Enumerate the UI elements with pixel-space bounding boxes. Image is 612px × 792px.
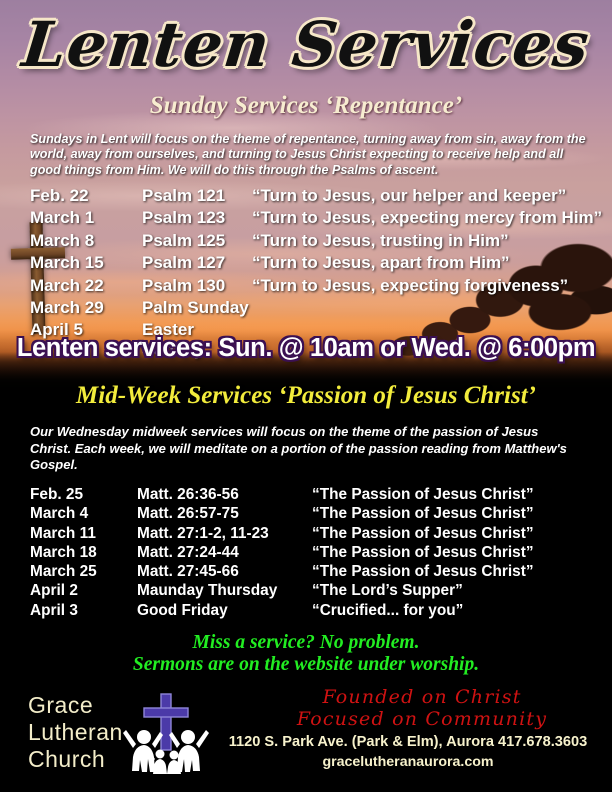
table-row: March 25 Matt. 27:45-66 “The Passion of …: [30, 563, 534, 582]
table-row: March 1 Psalm 123 “Turn to Jesus, expect…: [30, 208, 602, 230]
contact-info: 1120 S. Park Ave. (Park & Elm), Aurora 4…: [208, 732, 608, 772]
table-row: Feb. 22 Psalm 121 “Turn to Jesus, our he…: [30, 186, 602, 208]
schedule-reading: Psalm 130: [142, 276, 252, 296]
schedule-date: Feb. 25: [30, 486, 137, 504]
schedule-theme: “The Lord’s Supper”: [312, 582, 463, 600]
schedule-reading: Matt. 26:36-56: [137, 486, 312, 504]
sunday-schedule-table: Feb. 22 Psalm 121 “Turn to Jesus, our he…: [30, 186, 602, 343]
schedule-reading: Psalm 123: [142, 208, 252, 228]
schedule-date: March 1: [30, 208, 142, 228]
midweek-schedule-table: Feb. 25 Matt. 26:36-56 “The Passion of J…: [30, 486, 534, 621]
table-row: March 22 Psalm 130 “Turn to Jesus, expec…: [30, 276, 602, 298]
table-row: April 3 Good Friday “Crucified... for yo…: [30, 602, 534, 621]
schedule-reading: Psalm 125: [142, 231, 252, 251]
schedule-date: March 8: [30, 231, 142, 251]
tagline-line-2: Focused on Community: [272, 708, 572, 730]
schedule-reading: Psalm 127: [142, 253, 252, 273]
schedule-date: March 29: [30, 298, 142, 318]
sunday-section-heading: Sunday Services ‘Repentance’: [0, 92, 612, 120]
schedule-reading: Matt. 26:57-75: [137, 505, 312, 523]
schedule-date: Feb. 22: [30, 186, 142, 206]
schedule-date: March 22: [30, 276, 142, 296]
note-line-2: Sermons are on the website under worship…: [0, 654, 612, 676]
table-row: March 8 Psalm 125 “Turn to Jesus, trusti…: [30, 231, 602, 253]
schedule-theme: “Crucified... for you”: [312, 602, 463, 620]
schedule-reading: Maunday Thursday: [137, 582, 312, 600]
table-row: Feb. 25 Matt. 26:36-56 “The Passion of J…: [30, 486, 534, 505]
schedule-date: March 15: [30, 253, 142, 273]
church-address: 1120 S. Park Ave. (Park & Elm), Aurora 4…: [208, 732, 608, 752]
schedule-theme: “The Passion of Jesus Christ”: [312, 525, 534, 543]
schedule-theme: “The Passion of Jesus Christ”: [312, 505, 534, 523]
page-title: Lenten Services: [0, 8, 612, 81]
schedule-reading: Matt. 27:24-44: [137, 544, 312, 562]
service-times-banner: Lenten services: Sun. @ 10am or Wed. @ 6…: [0, 334, 612, 363]
schedule-theme: “Turn to Jesus, expecting mercy from Him…: [252, 208, 602, 228]
church-website[interactable]: gracelutheranaurora.com: [208, 752, 608, 772]
schedule-reading: Good Friday: [137, 602, 312, 620]
lenten-services-flyer: Lenten Services Sunday Services ‘Repenta…: [0, 0, 612, 792]
midweek-section-heading: Mid-Week Services ‘Passion of Jesus Chri…: [0, 382, 612, 410]
schedule-date: April 3: [30, 602, 137, 620]
schedule-date: March 18: [30, 544, 137, 562]
church-name-line-2: Lutheran: [28, 719, 123, 746]
schedule-date: March 11: [30, 525, 137, 543]
church-name-line-1: Grace: [28, 692, 123, 719]
table-row: March 4 Matt. 26:57-75 “The Passion of J…: [30, 505, 534, 524]
schedule-date: March 4: [30, 505, 137, 523]
church-name-wordmark: Grace Lutheran Church: [28, 692, 123, 773]
church-name-line-3: Church: [28, 746, 123, 773]
schedule-date: April 2: [30, 582, 137, 600]
sunday-description: Sundays in Lent will focus on the theme …: [30, 132, 586, 178]
midweek-description: Our Wednesday midweek services will focu…: [30, 424, 578, 474]
schedule-theme: “The Passion of Jesus Christ”: [312, 486, 534, 504]
tagline-line-1: Founded on Christ: [272, 686, 572, 708]
table-row: April 2 Maunday Thursday “The Lord’s Sup…: [30, 582, 534, 601]
schedule-reading: Palm Sunday: [142, 298, 252, 318]
table-row: March 18 Matt. 27:24-44 “The Passion of …: [30, 544, 534, 563]
schedule-theme: “Turn to Jesus, expecting forgiveness”: [252, 276, 568, 296]
church-tagline: Founded on Christ Focused on Community: [272, 686, 572, 730]
schedule-reading: Matt. 27:1-2, 11-23: [137, 525, 312, 543]
cross-with-people-icon: [122, 692, 210, 774]
schedule-theme: “Turn to Jesus, trusting in Him”: [252, 231, 509, 251]
schedule-theme: “The Passion of Jesus Christ”: [312, 544, 534, 562]
note-line-1: Miss a service? No problem.: [0, 632, 612, 654]
schedule-theme: “Turn to Jesus, apart from Him”: [252, 253, 510, 273]
schedule-theme: “The Passion of Jesus Christ”: [312, 563, 534, 581]
schedule-reading: Matt. 27:45-66: [137, 563, 312, 581]
sermon-availability-note: Miss a service? No problem. Sermons are …: [0, 632, 612, 676]
schedule-date: March 25: [30, 563, 137, 581]
table-row: March 15 Psalm 127 “Turn to Jesus, apart…: [30, 253, 602, 275]
schedule-reading: Psalm 121: [142, 186, 252, 206]
table-row: March 11 Matt. 27:1-2, 11-23 “The Passio…: [30, 525, 534, 544]
table-row: March 29 Palm Sunday: [30, 298, 602, 320]
schedule-theme: “Turn to Jesus, our helper and keeper”: [252, 186, 566, 206]
